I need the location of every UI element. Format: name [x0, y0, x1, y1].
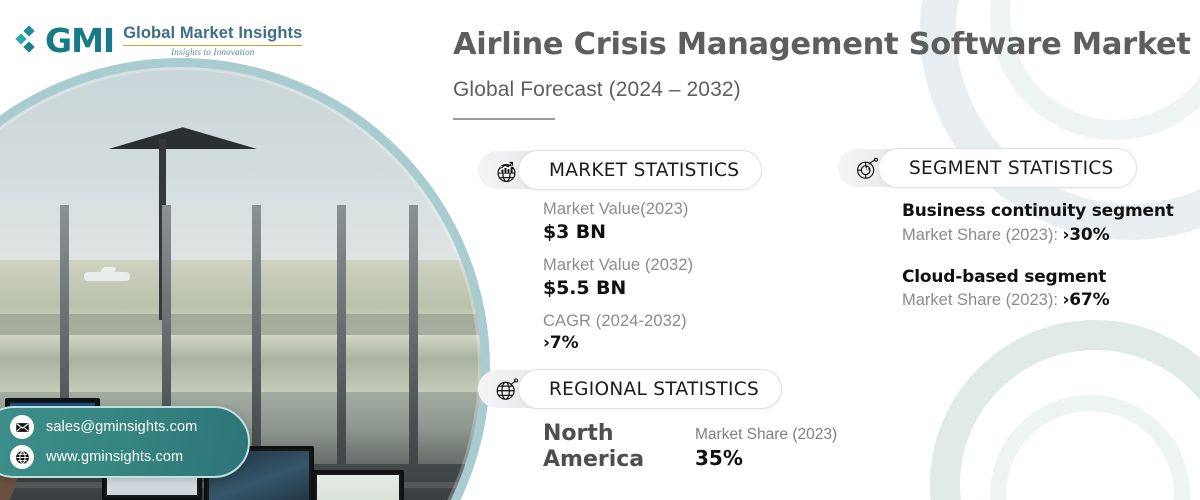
cagr-value: ›7%	[543, 332, 693, 354]
envelope-icon	[10, 415, 34, 439]
brand-name: Global Market Insights	[123, 24, 302, 42]
headline-block: Airline Crisis Management Software Marke…	[453, 28, 1191, 120]
photo-runway	[0, 314, 481, 335]
photo-airfield	[0, 260, 481, 392]
regional-statistics-label: REGIONAL STATISTICS	[518, 369, 782, 409]
photo-sky	[0, 67, 481, 272]
photo-window-mullion	[409, 205, 418, 476]
market-value-2023-value: $3 BN	[543, 220, 693, 245]
market-value-2032-label: Market Value (2032)	[543, 254, 693, 276]
segment-title: Cloud-based segment	[902, 266, 1174, 290]
segment-title: Business continuity segment	[902, 200, 1174, 224]
gmi-diamonds-icon	[16, 26, 36, 56]
segment-block: Cloud-based segment Market Share (2023):…	[902, 266, 1174, 314]
region-share-block: Market Share (2023) 35%	[695, 421, 837, 471]
contact-email-text: sales@gminsights.com	[46, 419, 197, 435]
market-value-2032-value: $5.5 BN	[543, 276, 693, 301]
contact-website-text: www.gminsights.com	[46, 449, 183, 465]
page-title: Airline Crisis Management Software Marke…	[453, 28, 1191, 62]
market-value-2023-label: Market Value(2023)	[543, 198, 693, 220]
segment-share-label: Market Share (2023):	[902, 226, 1063, 244]
globe-icon	[10, 445, 34, 469]
market-statistics-header: MARKET STATISTICS	[478, 150, 762, 190]
segment-statistics-label: SEGMENT STATISTICS	[878, 148, 1137, 188]
brand-lockup: Global Market Insights Insights to Innov…	[123, 24, 302, 56]
brand-rule	[123, 45, 302, 46]
segment-share-value: ›30%	[1063, 225, 1110, 245]
photo-aircraft	[84, 272, 130, 281]
photo-window-mullion	[252, 205, 261, 476]
photo-lamp-post	[159, 139, 166, 320]
contact-website-row[interactable]: www.gminsights.com	[10, 445, 248, 469]
photo-window-mullion	[337, 205, 346, 476]
photo-lamp-shade	[108, 127, 258, 149]
brand-abbr: GMI	[45, 24, 114, 57]
region-share-label: Market Share (2023)	[695, 424, 837, 446]
segment-statistics-body: Business continuity segment Market Share…	[902, 200, 1174, 331]
segment-block: Business continuity segment Market Share…	[902, 200, 1174, 248]
contact-pill: sales@gminsights.com www.gminsights.com	[0, 406, 250, 478]
regional-statistics-body: North America Market Share (2023) 35%	[543, 421, 837, 472]
region-share-value: 35%	[695, 446, 837, 471]
regional-statistics-header: REGIONAL STATISTICS	[478, 369, 782, 409]
region-name: North America	[543, 421, 663, 472]
segment-share-value: ›67%	[1063, 290, 1110, 310]
title-divider	[453, 118, 555, 120]
brand-logo[interactable]: GMI Global Market Insights Insights to I…	[16, 24, 302, 57]
market-statistics-label: MARKET STATISTICS	[518, 150, 762, 190]
cagr-label: CAGR (2024-2032)	[543, 310, 693, 332]
contact-email-row[interactable]: sales@gminsights.com	[10, 415, 248, 439]
page-subtitle: Global Forecast (2024 – 2032)	[453, 78, 1191, 102]
segment-share-line: Market Share (2023): ›30%	[902, 224, 1174, 248]
photo-monitor	[312, 470, 404, 500]
market-statistics-body: Market Value(2023) $3 BN Market Value (2…	[543, 198, 693, 363]
brand-tagline: Insights to Innovation	[171, 47, 254, 57]
photo-desk-edge	[0, 482, 481, 488]
segment-share-label: Market Share (2023):	[902, 291, 1063, 309]
infographic-canvas: GMI Global Market Insights Insights to I…	[0, 0, 1200, 500]
segment-share-line: Market Share (2023): ›67%	[902, 289, 1174, 313]
segment-statistics-header: SEGMENT STATISTICS	[838, 148, 1137, 188]
